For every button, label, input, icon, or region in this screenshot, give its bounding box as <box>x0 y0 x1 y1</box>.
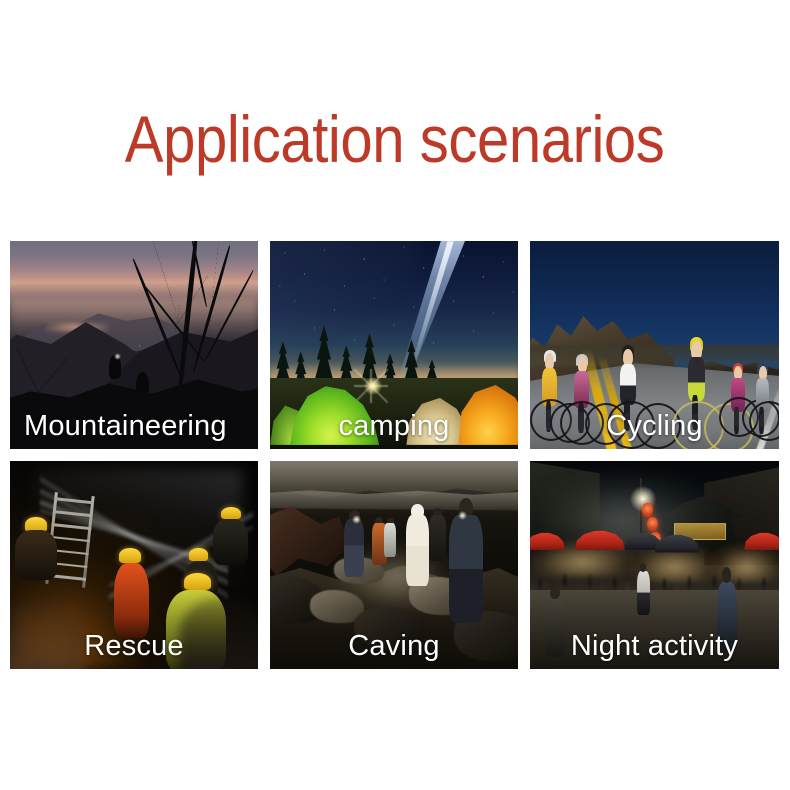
caver <box>384 523 396 556</box>
page-title: Application scenarios <box>125 103 665 175</box>
right-bare-tree <box>139 241 253 407</box>
firefighter <box>114 563 149 638</box>
pedestrian-head <box>640 563 646 573</box>
caver <box>429 515 446 561</box>
ladder-rung <box>52 511 92 518</box>
page-title-bar: Application scenarios <box>0 98 790 180</box>
ladder-rung <box>54 498 94 505</box>
scenario-label-rescue: Rescue <box>10 629 258 663</box>
scenario-tile-rescue[interactable]: Rescue <box>10 461 258 669</box>
firefighter <box>15 530 57 580</box>
scenario-tile-night-activity[interactable]: Night activity <box>530 461 779 669</box>
caver-body <box>429 515 446 561</box>
scenario-tile-camping[interactable]: camping <box>270 241 518 449</box>
scenario-label-night-activity: Night activity <box>530 629 779 663</box>
caver-body <box>406 515 428 586</box>
ladder-rung <box>51 523 91 530</box>
application-scenarios-page: Application scenarios <box>0 0 790 790</box>
scenario-label-mountaineering: Mountaineering <box>10 409 258 443</box>
caver-foreground <box>449 515 484 623</box>
caver <box>344 519 364 577</box>
scenario-label-camping: camping <box>270 409 518 443</box>
caver <box>406 515 428 586</box>
firefighter <box>213 519 248 565</box>
scenario-tile-mountaineering[interactable]: Mountaineering <box>10 241 258 449</box>
pedestrian-head <box>550 587 560 600</box>
scenario-grid: Mountaineering <box>10 241 779 669</box>
scenario-label-cycling: Cycling <box>530 409 779 443</box>
caver-body <box>344 519 364 577</box>
scenario-tile-caving[interactable]: Caving <box>270 461 518 669</box>
firefighter-helmet <box>184 573 211 590</box>
firefighter-helmet <box>119 548 141 563</box>
headlamp-icon <box>352 515 361 524</box>
red-lantern <box>647 517 658 531</box>
red-lantern <box>642 503 653 517</box>
firefighter-helmet <box>189 548 209 560</box>
tree-twigs <box>139 241 253 407</box>
firefighter-helmet <box>221 507 241 519</box>
scenario-tile-cycling[interactable]: Cycling <box>530 241 779 449</box>
caver-body <box>384 523 396 556</box>
scenario-label-caving: Caving <box>270 629 518 663</box>
pedestrian-center <box>637 571 649 615</box>
caver-body <box>449 515 484 623</box>
